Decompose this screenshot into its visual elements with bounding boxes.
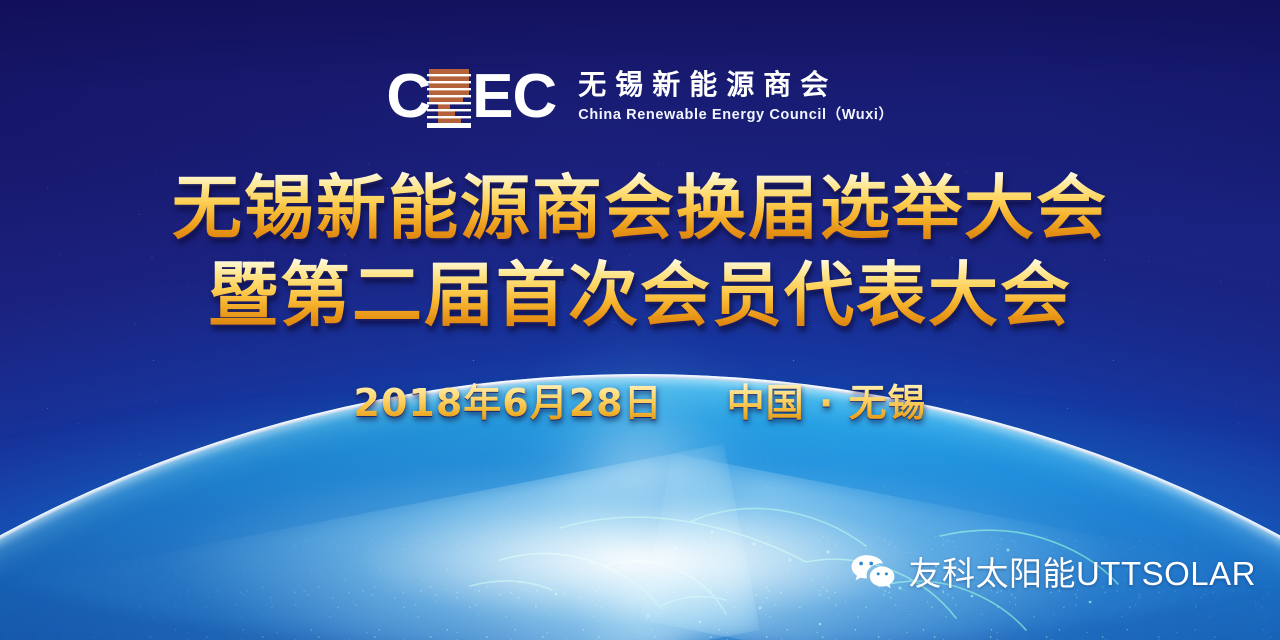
crec-logo-wordmark: 无锡新能源商会 China Renewable Energy Council（W…: [578, 70, 893, 123]
wechat-watermark: 友科太阳能UTTSOLAR: [850, 554, 1256, 592]
wechat-icon: [850, 554, 896, 592]
logo-chinese-name: 无锡新能源商会: [578, 70, 893, 99]
event-location: 中国 · 无锡: [727, 372, 927, 427]
logo-letter-c2: C: [512, 66, 556, 128]
watermark-text: 友科太阳能UTTSOLAR: [908, 557, 1256, 590]
crec-logo-mark: C: [386, 66, 556, 128]
crec-logo: C: [0, 66, 1280, 128]
logo-english-name: China Renewable Energy Council（Wuxi）: [578, 103, 893, 124]
event-title-line-2: 暨第二届首次会员代表大会: [0, 255, 1280, 336]
event-meta: 2018年6月28日 中国 · 无锡: [0, 372, 1280, 427]
logo-letter-c1: C: [386, 66, 430, 128]
event-title-line-1: 无锡新能源商会换届选举大会: [0, 168, 1280, 249]
event-date: 2018年6月28日: [354, 372, 663, 427]
event-title: 无锡新能源商会换届选举大会 暨第二届首次会员代表大会: [0, 168, 1280, 336]
conference-banner: C: [0, 0, 1280, 640]
solar-panel-stylised-R-icon: [427, 68, 471, 128]
logo-letter-e: E: [472, 66, 512, 128]
